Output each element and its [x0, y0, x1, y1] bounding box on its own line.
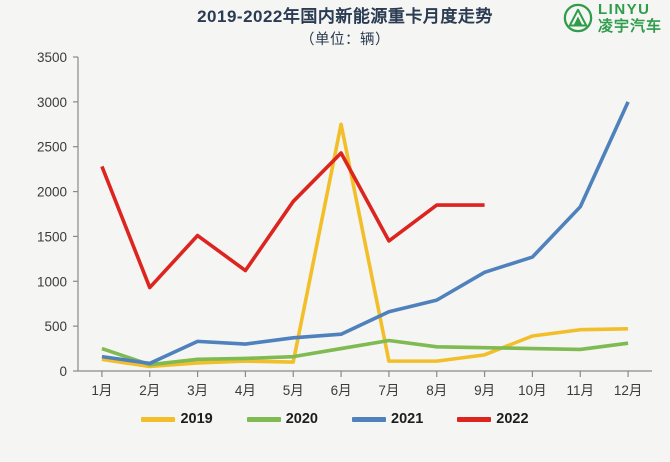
y-axis-tick-label: 0	[59, 364, 67, 379]
y-axis-tick-label: 1500	[37, 229, 67, 244]
y-axis-tick-label: 1000	[37, 274, 67, 289]
x-axis-tick-label: 4月	[235, 383, 256, 398]
x-axis-tick-label: 6月	[331, 383, 352, 398]
x-axis-tick-label: 8月	[426, 383, 447, 398]
legend-swatch-2021	[352, 417, 386, 422]
legend-item-2019[interactable]: 2019	[141, 411, 212, 427]
legend-item-2020[interactable]: 2020	[247, 411, 318, 427]
x-axis-tick-label: 10月	[518, 383, 547, 398]
x-axis-tick-label: 1月	[91, 383, 112, 398]
legend-label-2020: 2020	[286, 411, 318, 427]
legend-label-2021: 2021	[391, 411, 423, 427]
x-axis-tick-label: 11月	[566, 383, 594, 398]
legend-label-2019: 2019	[180, 411, 212, 427]
y-axis-tick-label: 2500	[37, 140, 67, 155]
legend-swatch-2022	[457, 417, 491, 422]
series-line-2022	[102, 153, 485, 288]
x-axis-tick-label: 2月	[139, 383, 160, 398]
series-line-2019	[102, 124, 628, 366]
series-line-2021	[102, 102, 628, 364]
y-axis-tick-label: 3500	[37, 50, 67, 65]
x-axis-tick-label: 3月	[187, 383, 208, 398]
chart-page: 2019-2022年国内新能源重卡月度走势 （单位：辆） LINYU 凌宇汽车 …	[0, 0, 670, 462]
chart-legend: 2019202020212022	[0, 411, 670, 427]
series-line-2020	[102, 341, 628, 365]
y-axis-tick-label: 2000	[37, 185, 67, 200]
legend-item-2022[interactable]: 2022	[457, 411, 528, 427]
legend-item-2021[interactable]: 2021	[352, 411, 423, 427]
x-axis-tick-label: 9月	[474, 383, 495, 398]
y-axis-tick-label: 500	[44, 319, 67, 334]
x-axis-tick-label: 7月	[378, 383, 399, 398]
x-axis-tick-label: 5月	[283, 383, 304, 398]
legend-swatch-2020	[247, 417, 281, 422]
y-axis-tick-label: 3000	[37, 95, 67, 110]
legend-swatch-2019	[141, 417, 175, 422]
line-chart-plot: 05001000150020002500300035001月2月3月4月5月6月…	[0, 0, 670, 462]
x-axis-tick-label: 12月	[614, 383, 643, 398]
legend-label-2022: 2022	[496, 411, 528, 427]
